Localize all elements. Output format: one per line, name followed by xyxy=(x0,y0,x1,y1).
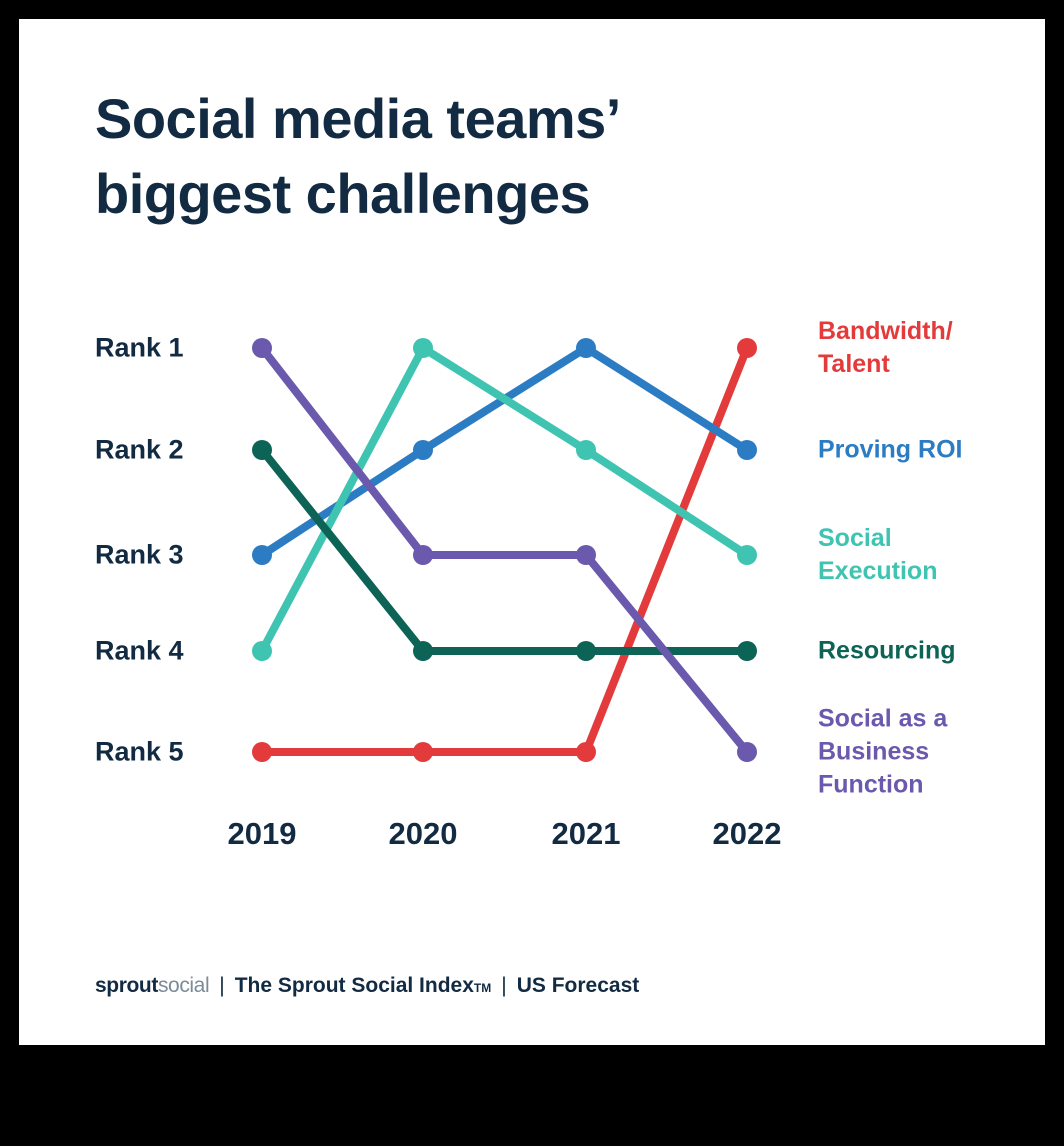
trademark-symbol: TM xyxy=(474,981,491,995)
year-label-2021: 2021 xyxy=(552,816,621,852)
data-point-marker xyxy=(252,338,272,358)
legend-item-3: Social Execution xyxy=(818,522,937,588)
footer-forecast-text: US Forecast xyxy=(517,974,640,998)
data-point-marker xyxy=(252,641,272,661)
outer-frame: Social media teams’ biggest challenges R… xyxy=(0,0,1064,1146)
data-point-marker xyxy=(737,641,757,661)
data-point-marker xyxy=(576,545,596,565)
legend-item-1: Bandwidth/ Talent xyxy=(818,315,953,381)
data-point-marker xyxy=(413,440,433,460)
year-label-2022: 2022 xyxy=(713,816,782,852)
data-point-marker xyxy=(576,742,596,762)
rank-label-3: Rank 3 xyxy=(95,540,184,571)
footer-index-text: The Sprout Social Index xyxy=(235,974,474,998)
footer-attribution: sproutsocial | The Sprout Social IndexTM… xyxy=(95,974,639,998)
data-point-marker xyxy=(252,742,272,762)
data-point-marker xyxy=(413,742,433,762)
legend-item-2: Proving ROI xyxy=(818,434,962,467)
data-point-marker xyxy=(252,545,272,565)
footer-separator-1: | xyxy=(209,974,234,998)
year-label-2020: 2020 xyxy=(389,816,458,852)
rank-label-4: Rank 4 xyxy=(95,636,184,667)
infographic-card: Social media teams’ biggest challenges R… xyxy=(19,19,1045,1045)
sprout-wordmark-light: social xyxy=(158,974,209,998)
legend-item-5: Social as a Business Function xyxy=(818,703,947,802)
series-3 xyxy=(252,338,757,661)
sprout-wordmark-bold: sprout xyxy=(95,974,158,998)
data-point-marker xyxy=(576,440,596,460)
rank-label-1: Rank 1 xyxy=(95,333,184,364)
data-point-marker xyxy=(252,440,272,460)
data-point-marker xyxy=(413,545,433,565)
year-label-2019: 2019 xyxy=(228,816,297,852)
data-point-marker xyxy=(413,338,433,358)
data-point-marker xyxy=(737,742,757,762)
data-point-marker xyxy=(737,440,757,460)
data-point-marker xyxy=(576,338,596,358)
data-point-marker xyxy=(576,641,596,661)
rank-line-chart: Rank 1Rank 2Rank 3Rank 4Rank 5 201920202… xyxy=(19,19,1045,1045)
rank-label-5: Rank 5 xyxy=(95,737,184,768)
series-line xyxy=(262,348,747,651)
series-line xyxy=(262,450,747,651)
rank-label-2: Rank 2 xyxy=(95,435,184,466)
data-point-marker xyxy=(737,545,757,565)
data-point-marker xyxy=(737,338,757,358)
footer-separator-2: | xyxy=(491,974,516,998)
data-point-marker xyxy=(413,641,433,661)
legend-item-4: Resourcing xyxy=(818,635,956,668)
series-4 xyxy=(252,440,757,661)
